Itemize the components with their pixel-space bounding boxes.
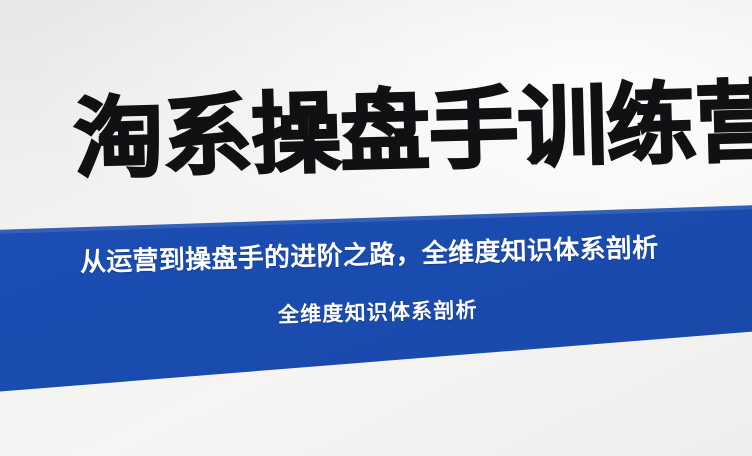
- page-title: 淘系操盘手训练营: [73, 78, 752, 184]
- watermark-top-right: · · · · · · · · ·: [636, 50, 719, 59]
- course-cover-banner: · · · · · · · · · 淘系操盘手训练营 从运营到操盘手的进阶之路，…: [0, 0, 752, 456]
- subtitle-secondary: 全维度知识体系剖析: [278, 299, 478, 328]
- watermark-bottom-center: · · · · ·: [296, 400, 336, 409]
- blue-banner-band: [0, 0, 752, 456]
